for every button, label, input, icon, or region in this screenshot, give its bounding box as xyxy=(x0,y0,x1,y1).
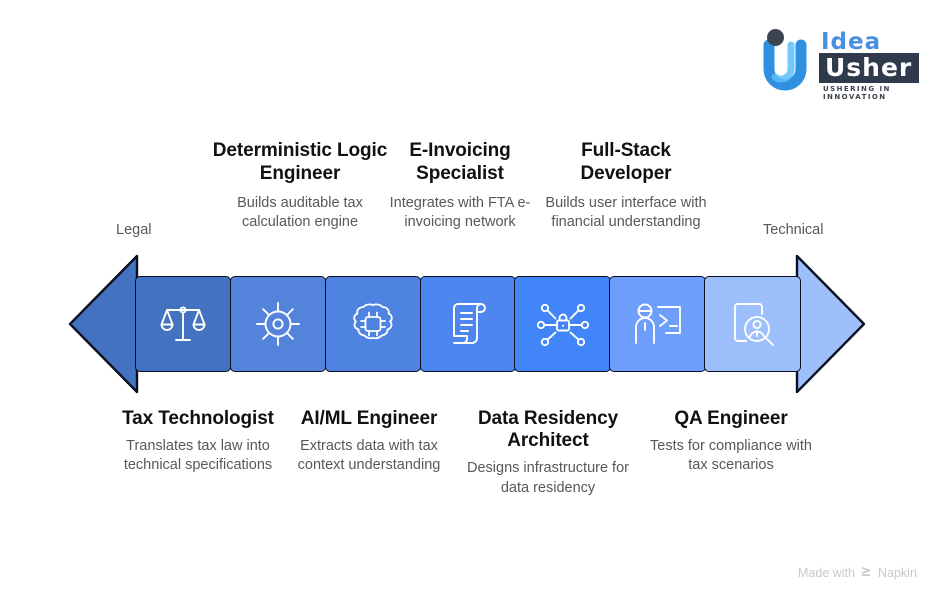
callout-title: E-Invoicing Specialist xyxy=(375,140,545,184)
callout-description: Builds user interface with financial und… xyxy=(540,194,712,232)
idea-usher-logo: Idea Usher USHERING IN INNOVATION xyxy=(761,29,909,93)
footer-made-with-text: Made with xyxy=(798,566,855,580)
footer-brand-text: Napkin xyxy=(878,566,917,580)
callout-title: Data Residency Architect xyxy=(462,408,634,452)
person-search-doc-icon xyxy=(726,298,778,350)
callout-description: Builds auditable tax calculation engine xyxy=(210,194,390,232)
arrow-head-left xyxy=(70,256,137,392)
gear-cog-icon xyxy=(254,300,302,348)
callout-tax-technologist: Tax Technologist Translates tax law into… xyxy=(112,408,284,475)
segment-ai-ml-engineer[interactable] xyxy=(325,276,421,372)
segment-row xyxy=(135,276,799,372)
callout-title: AI/ML Engineer xyxy=(286,408,452,430)
segment-full-stack-developer[interactable] xyxy=(609,276,705,372)
callout-full-stack-developer: Full-Stack Developer Builds user interfa… xyxy=(540,140,712,232)
segment-qa-engineer[interactable] xyxy=(704,276,800,372)
axis-label-legal: Legal xyxy=(116,222,151,238)
logo-usher-band: Usher xyxy=(819,53,919,83)
callout-title: Deterministic Logic Engineer xyxy=(210,140,390,184)
network-lock-icon xyxy=(536,299,590,349)
brain-chip-icon xyxy=(347,299,399,349)
callout-description: Integrates with FTA e-invoicing network xyxy=(375,194,545,232)
scroll-document-icon xyxy=(445,298,491,350)
segment-tax-technologist[interactable] xyxy=(135,276,231,372)
person-terminal-icon xyxy=(630,299,686,349)
callout-title: Tax Technologist xyxy=(112,408,284,430)
axis-label-technical: Technical xyxy=(763,222,823,238)
callout-title: Full-Stack Developer xyxy=(540,140,712,184)
callout-description: Extracts data with tax context understan… xyxy=(286,437,452,475)
callout-ai-ml-engineer: AI/ML Engineer Extracts data with tax co… xyxy=(286,408,452,475)
segment-data-residency-architect[interactable] xyxy=(514,276,610,372)
callout-title: QA Engineer xyxy=(648,408,814,430)
diagram-canvas: Idea Usher USHERING IN INNOVATION Legal … xyxy=(0,0,934,601)
segment-deterministic-logic-engineer[interactable] xyxy=(230,276,326,372)
callout-description: Translates tax law into technical specif… xyxy=(112,437,284,475)
callout-qa-engineer: QA Engineer Tests for compliance with ta… xyxy=(648,408,814,475)
logo-dot-icon xyxy=(767,29,784,46)
logo-idea-text: Idea xyxy=(821,29,881,55)
napkin-chevron-icon xyxy=(860,565,873,581)
callout-e-invoicing-specialist: E-Invoicing Specialist Integrates with F… xyxy=(375,140,545,232)
segment-e-invoicing-specialist[interactable] xyxy=(420,276,516,372)
callout-description: Designs infrastructure for data residenc… xyxy=(462,459,634,497)
callout-data-residency-architect: Data Residency Architect Designs infrast… xyxy=(462,408,634,498)
spectrum-arrow xyxy=(68,254,866,394)
made-with-napkin-footer: Made with Napkin xyxy=(798,565,917,581)
logo-tagline: USHERING IN INNOVATION xyxy=(823,85,909,101)
logo-usher-text: Usher xyxy=(825,55,912,80)
callout-deterministic-logic-engineer: Deterministic Logic Engineer Builds audi… xyxy=(210,140,390,232)
arrow-head-right xyxy=(797,256,864,392)
scales-of-justice-icon xyxy=(158,299,208,349)
callout-description: Tests for compliance with tax scenarios xyxy=(648,437,814,475)
